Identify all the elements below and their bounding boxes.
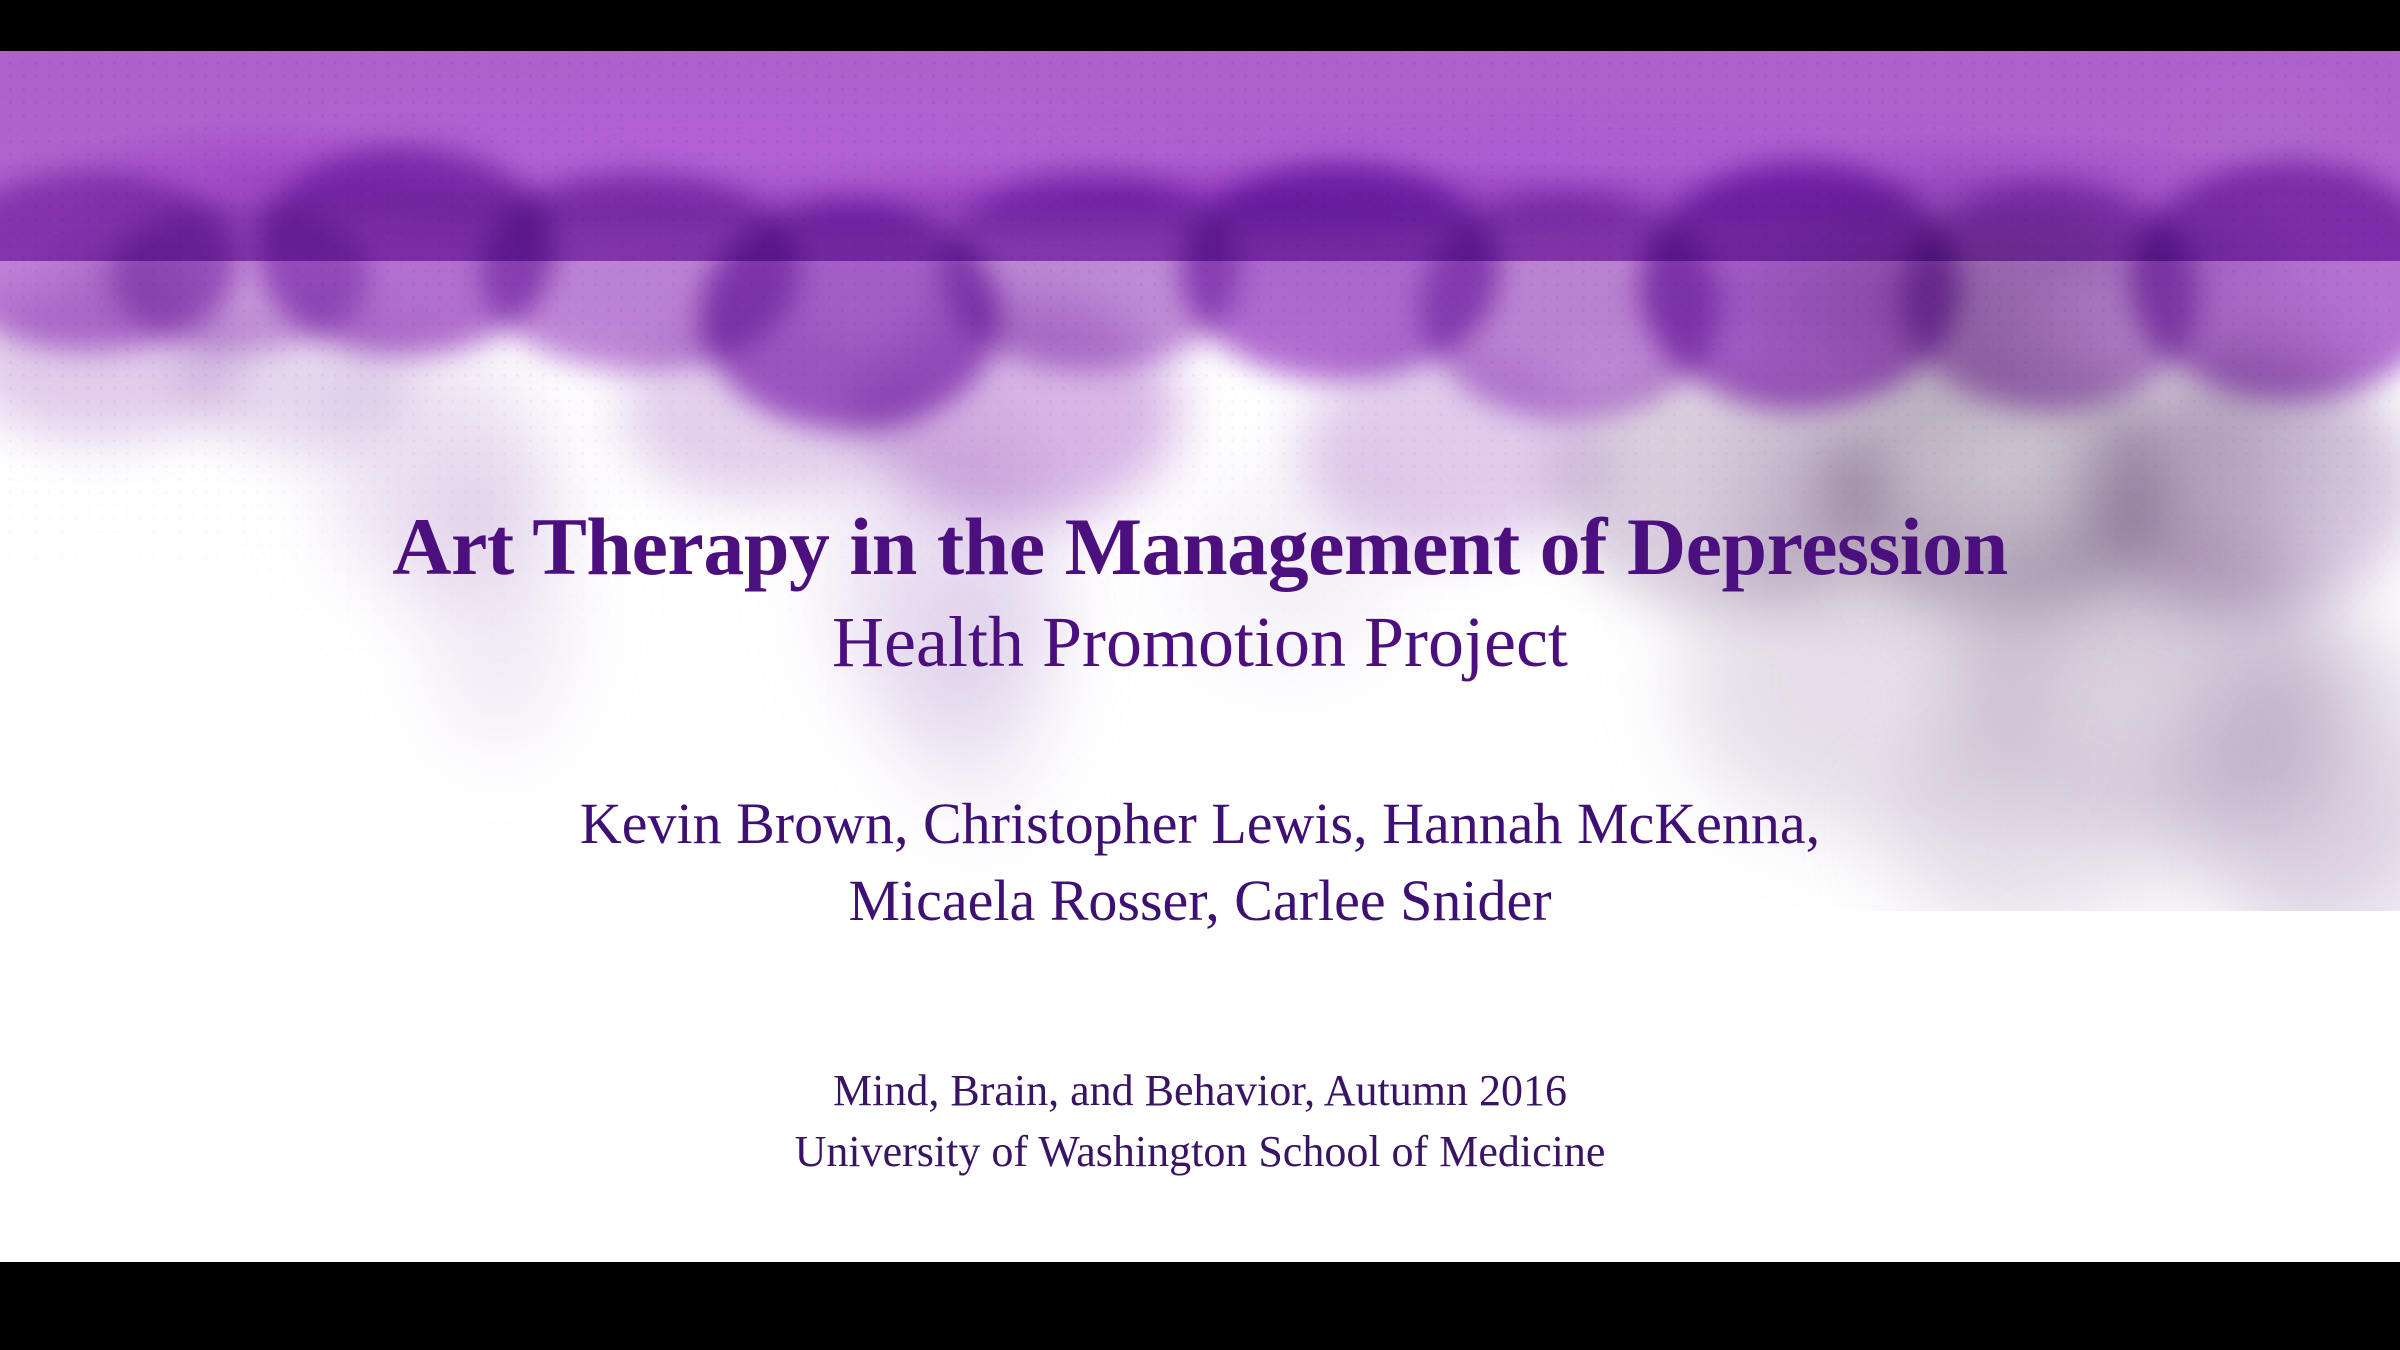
watercolor-blob — [255, 146, 555, 356]
watercolor-splash-header-decoration — [0, 51, 2400, 911]
presentation-viewport: Art Therapy in the Management of Depress… — [0, 0, 2400, 1350]
course-and-term-line: Mind, Brain, and Behavior, Autumn 2016 — [0, 1061, 2400, 1122]
slide-canvas: Art Therapy in the Management of Depress… — [0, 51, 2400, 1262]
author-line: Micaela Rosser, Carlee Snider — [0, 863, 2400, 940]
watercolor-blob — [1180, 161, 1500, 381]
watercolor-blob — [180, 301, 410, 451]
page-title: Art Therapy in the Management of Depress… — [0, 506, 2400, 588]
watercolor-blob — [0, 171, 240, 351]
watercolor-blob — [860, 301, 1180, 521]
watercolor-blob — [700, 201, 1000, 431]
watercolor-blob — [1640, 161, 1960, 411]
watercolor-blob — [2130, 161, 2400, 401]
letterbox-bar-top — [0, 0, 2400, 51]
affiliation-block: Mind, Brain, and Behavior, Autumn 2016 U… — [0, 1061, 2400, 1182]
watercolor-blob — [480, 171, 800, 371]
watercolor-blob — [1420, 191, 1720, 421]
watercolor-blob — [110, 201, 370, 351]
author-line: Kevin Brown, Christopher Lewis, Hannah M… — [0, 786, 2400, 863]
page-subtitle: Health Promotion Project — [0, 606, 2400, 678]
watercolor-blob — [1900, 181, 2200, 411]
watercolor-blob — [620, 321, 900, 501]
authors-list: Kevin Brown, Christopher Lewis, Hannah M… — [0, 786, 2400, 939]
watercolor-drip — [430, 451, 570, 751]
watercolor-blob — [940, 171, 1240, 371]
institution-line: University of Washington School of Medic… — [0, 1122, 2400, 1183]
watercolor-grain-texture — [0, 51, 2400, 811]
watercolor-blob — [0, 281, 240, 441]
letterbox-bar-bottom — [0, 1262, 2400, 1350]
watercolor-dense-band — [0, 51, 2400, 261]
